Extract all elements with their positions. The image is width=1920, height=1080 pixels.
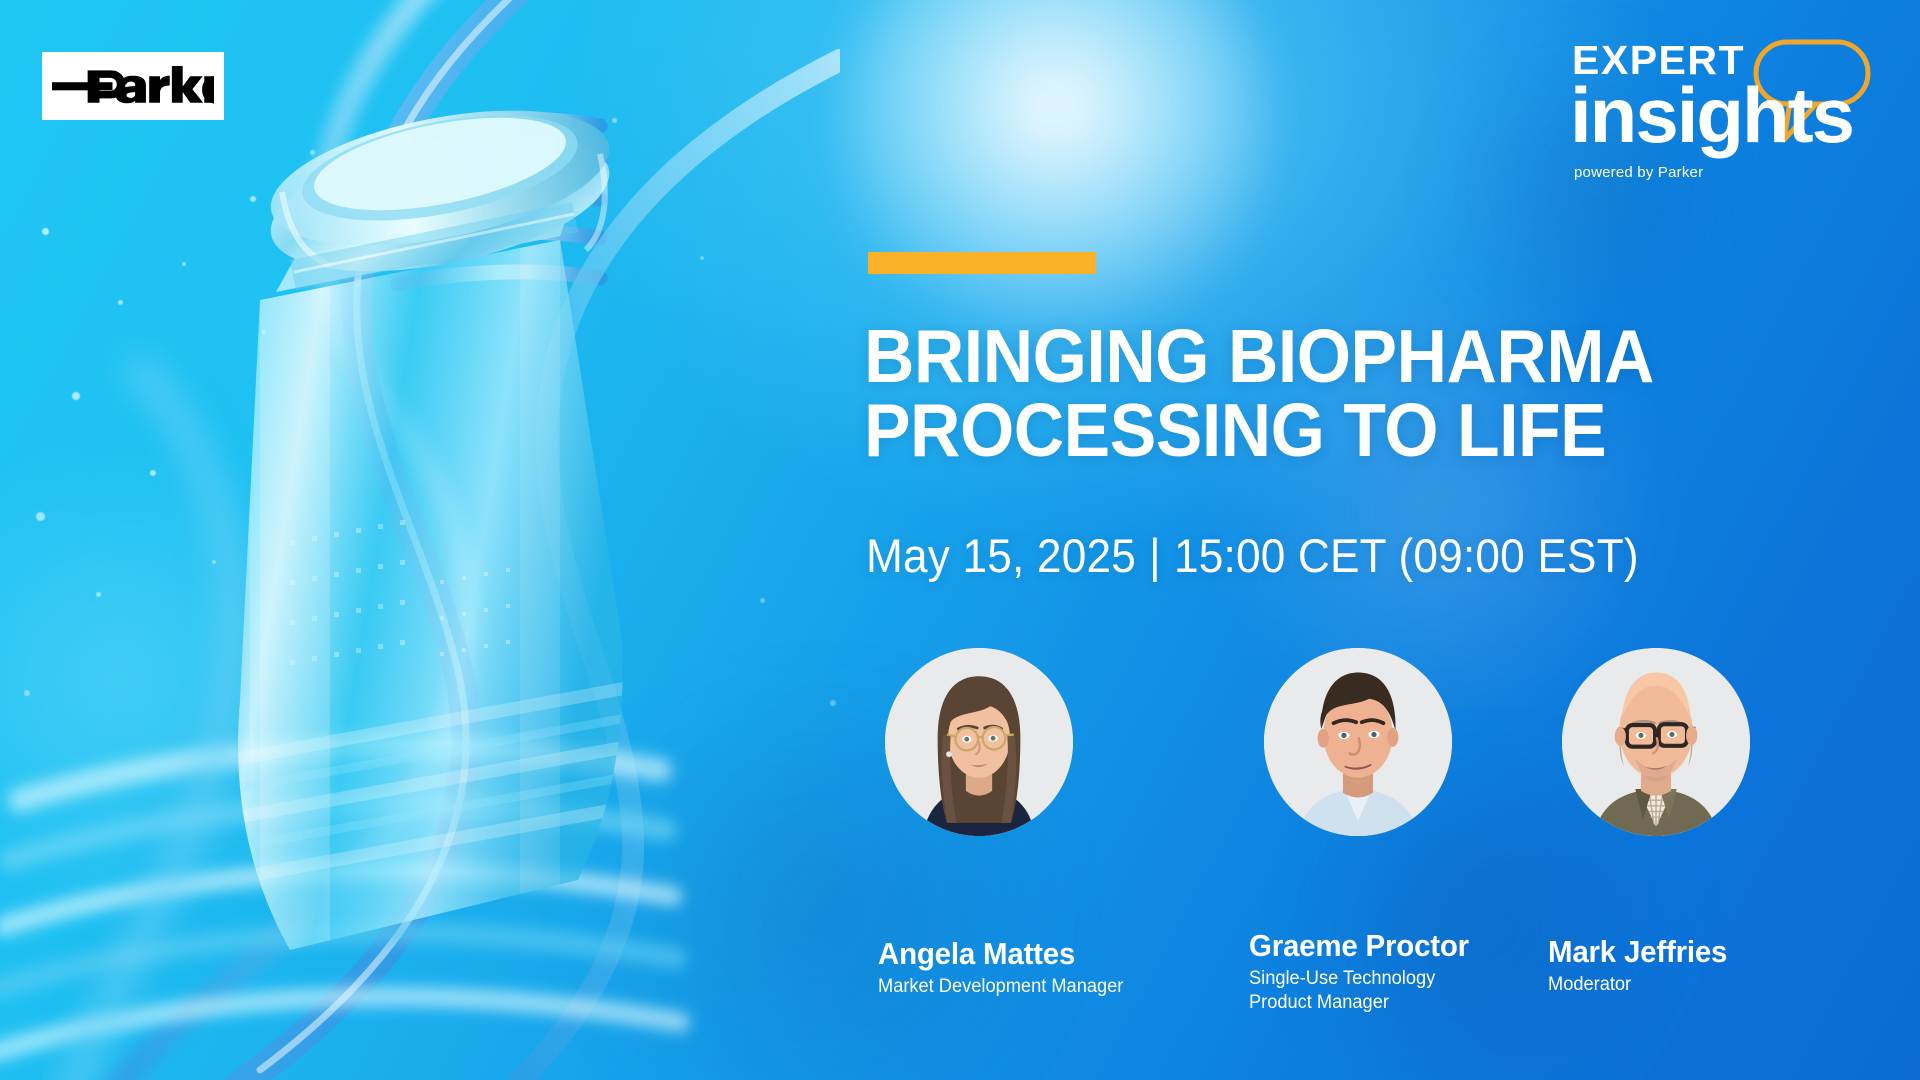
- speaker-role: Moderator: [1548, 973, 1769, 997]
- parker-wordmark-icon: [52, 64, 214, 108]
- main-content: BRINGING BIOPHARMA PROCESSING TO LIFE Ma…: [868, 0, 1878, 1080]
- title-line-1: BRINGING BIOPHARMA: [864, 320, 1822, 394]
- avatar: [1562, 648, 1750, 836]
- headshot-graeme-proctor-icon: [1264, 648, 1452, 836]
- headshot-angela-mattes-icon: [885, 648, 1073, 836]
- speaker-name: Mark Jeffries: [1548, 934, 1752, 970]
- headshot-mark-jeffries-icon: [1562, 648, 1750, 836]
- dna-helix-and-vial-illustration: [0, 0, 840, 1080]
- title-line-2: PROCESSING TO LIFE: [864, 394, 1822, 468]
- speaker-list: Angela Mattes Market Development Manager: [868, 648, 1878, 978]
- event-time: 15:00 CET (09:00 EST): [1174, 529, 1639, 582]
- event-date: May 15, 2025: [866, 529, 1136, 582]
- avatar: [1264, 648, 1452, 836]
- speaker-card: Graeme Proctor Single-Use Technology Pro…: [1151, 648, 1481, 1015]
- speaker-role: Market Development Manager: [878, 975, 1166, 999]
- webinar-promo-banner: EXPERT insights powered by Parker BRINGI…: [0, 0, 1920, 1080]
- accent-bar: [868, 252, 1096, 274]
- event-datetime: May 15, 2025|15:00 CET (09:00 EST): [866, 528, 1639, 583]
- datetime-separator: |: [1136, 528, 1174, 583]
- speaker-name: Angela Mattes: [878, 936, 1192, 972]
- speaker-card: Mark Jeffries Moderator: [1433, 648, 1763, 997]
- avatar: [885, 648, 1073, 836]
- page-title: BRINGING BIOPHARMA PROCESSING TO LIFE: [864, 320, 1822, 467]
- parker-logo[interactable]: [42, 52, 224, 120]
